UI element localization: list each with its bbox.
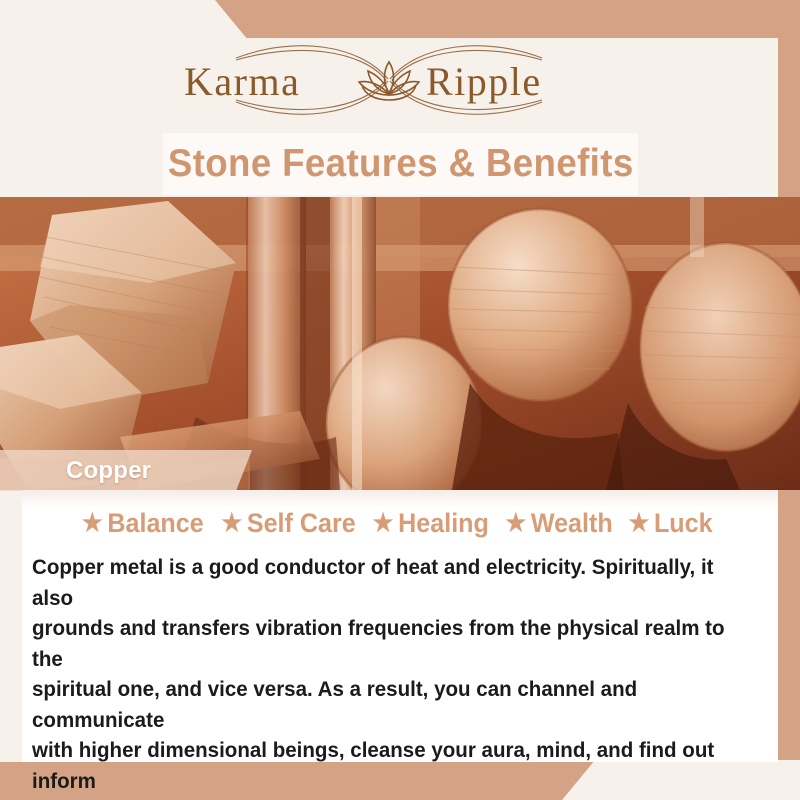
description-text: Copper metal is a good conductor of heat… bbox=[32, 552, 739, 800]
description-line: grounds and transfers vibration frequenc… bbox=[32, 613, 739, 674]
star-icon: ★ bbox=[628, 511, 649, 536]
brand-logo: Karma Ripple bbox=[0, 36, 778, 126]
photo-artwork bbox=[0, 197, 800, 490]
page-title: Stone Features & Benefits bbox=[168, 142, 634, 186]
description-line: spiritual one, and vice versa. As a resu… bbox=[32, 674, 739, 735]
feature-item-balance: ★ Balance bbox=[82, 508, 211, 539]
feature-item-wealth: ★ Wealth bbox=[506, 508, 621, 539]
star-icon: ★ bbox=[506, 511, 527, 536]
product-infographic: Karma Ripple Stone Features & Benefits bbox=[0, 0, 800, 800]
feature-item-self-care: ★ Self Care bbox=[221, 508, 363, 539]
photo-caption-label: Copper bbox=[0, 457, 151, 485]
content-panel: ★ Balance ★ Self Care ★ Healing ★ Wealth… bbox=[22, 490, 778, 762]
feature-label: Healing bbox=[398, 508, 489, 539]
lotus-icon bbox=[359, 62, 419, 100]
description-line: -ation from the spiritual world. Copper … bbox=[32, 796, 739, 800]
description-line: Copper metal is a good conductor of heat… bbox=[32, 552, 739, 613]
copper-rods-photo bbox=[0, 197, 800, 490]
star-icon: ★ bbox=[221, 511, 242, 536]
feature-item-healing: ★ Healing bbox=[373, 508, 497, 539]
panel-top-fade bbox=[22, 490, 778, 508]
brand-logo-svg: Karma Ripple bbox=[174, 38, 604, 124]
section-title-banner: Stone Features & Benefits bbox=[163, 133, 638, 195]
feature-list: ★ Balance ★ Self Care ★ Healing ★ Wealth… bbox=[22, 508, 778, 539]
description-line: with higher dimensional beings, cleanse … bbox=[32, 735, 739, 796]
star-icon: ★ bbox=[373, 511, 394, 536]
star-icon: ★ bbox=[82, 511, 103, 536]
feature-label: Luck bbox=[654, 508, 713, 539]
photo-caption-bar: Copper bbox=[0, 450, 260, 491]
feature-label: Self Care bbox=[247, 508, 356, 539]
brand-name-left: Karma bbox=[184, 59, 300, 104]
feature-label: Balance bbox=[107, 508, 203, 539]
brand-name-right: Ripple bbox=[426, 59, 542, 104]
feature-label: Wealth bbox=[531, 508, 613, 539]
frame-band-top-right bbox=[0, 0, 800, 40]
feature-item-luck: ★ Luck bbox=[628, 508, 720, 539]
